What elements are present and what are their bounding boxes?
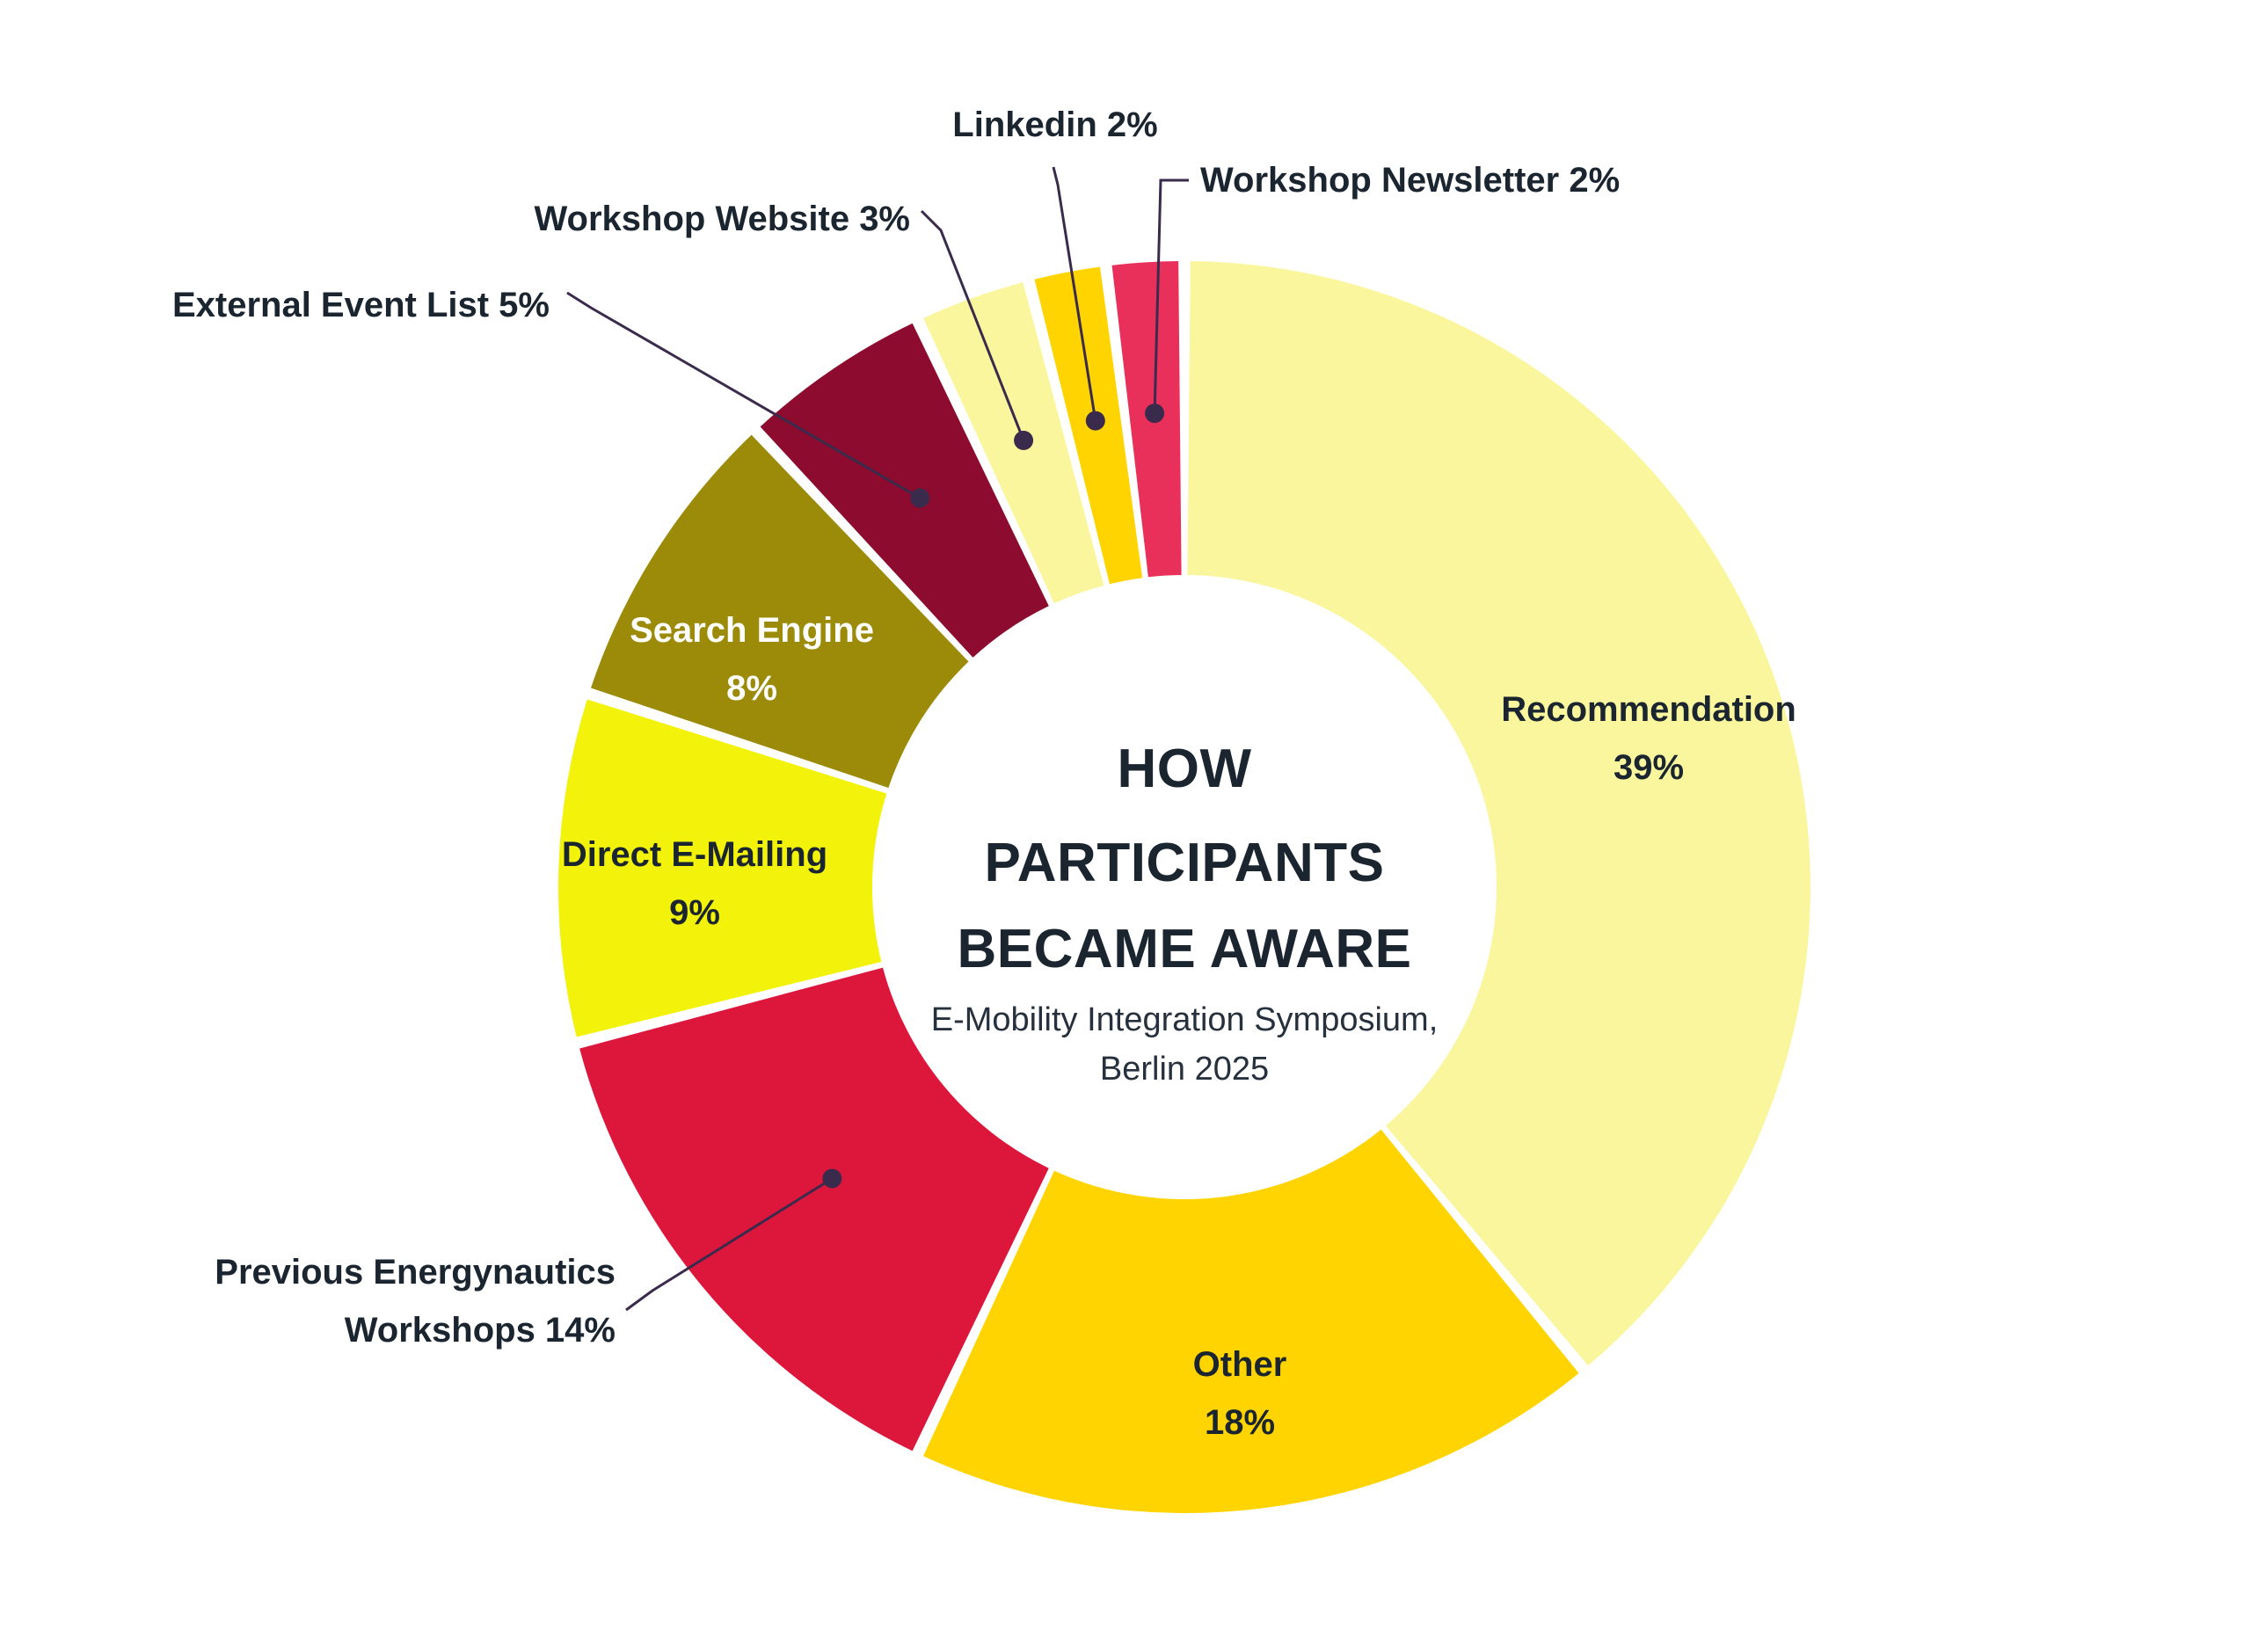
direct-emailing-label-value: 9% [669,893,720,932]
center-title-line1: HOW [1117,739,1251,799]
search-engine-label-name: Search Engine [630,611,874,650]
center-subtitle-line1: E-Mobility Integration Symposium, [931,1001,1439,1038]
callout-label-external-event-list: External Event List 5% [172,286,550,324]
callout-label-workshop-website: Workshop Website 3% [535,200,911,238]
leader-dot-linkedin [1086,411,1105,431]
leader-dot-workshop-newsletter [1145,404,1164,423]
recommendation-label-value: 39% [1614,748,1684,787]
search-engine-label-value: 8% [726,669,777,708]
leader-dot-external-event-list [910,489,929,508]
donut-chart-figure: Recommendation 39%Other 18%Previous Ener… [0,0,2251,1652]
callout-label-previous-workshops-line2: Workshops 14% [345,1311,616,1350]
center-title-line2: PARTICIPANTS [985,833,1385,893]
center-title-line3: BECAME AWARE [958,919,1412,979]
other-label-value: 18% [1205,1403,1275,1442]
leader-dot-workshop-website [1014,431,1033,450]
direct-emailing-label-name: Direct E-Mailing [562,835,827,874]
recommendation-label-name: Recommendation [1501,690,1796,729]
center-subtitle-line2: Berlin 2025 [1100,1051,1269,1088]
callout-label-previous-workshops-line1: Previous Energynautics [215,1253,616,1292]
callout-label-workshop-newsletter: Workshop Newsletter 2% [1200,161,1620,200]
leader-dot-previous-energynautics-workshops [822,1168,841,1188]
other-label-name: Other [1193,1345,1287,1384]
donut-chart-svg: Recommendation 39%Other 18%Previous Ener… [0,0,2251,1652]
callout-label-linkedin: Linkedin 2% [952,106,1157,144]
